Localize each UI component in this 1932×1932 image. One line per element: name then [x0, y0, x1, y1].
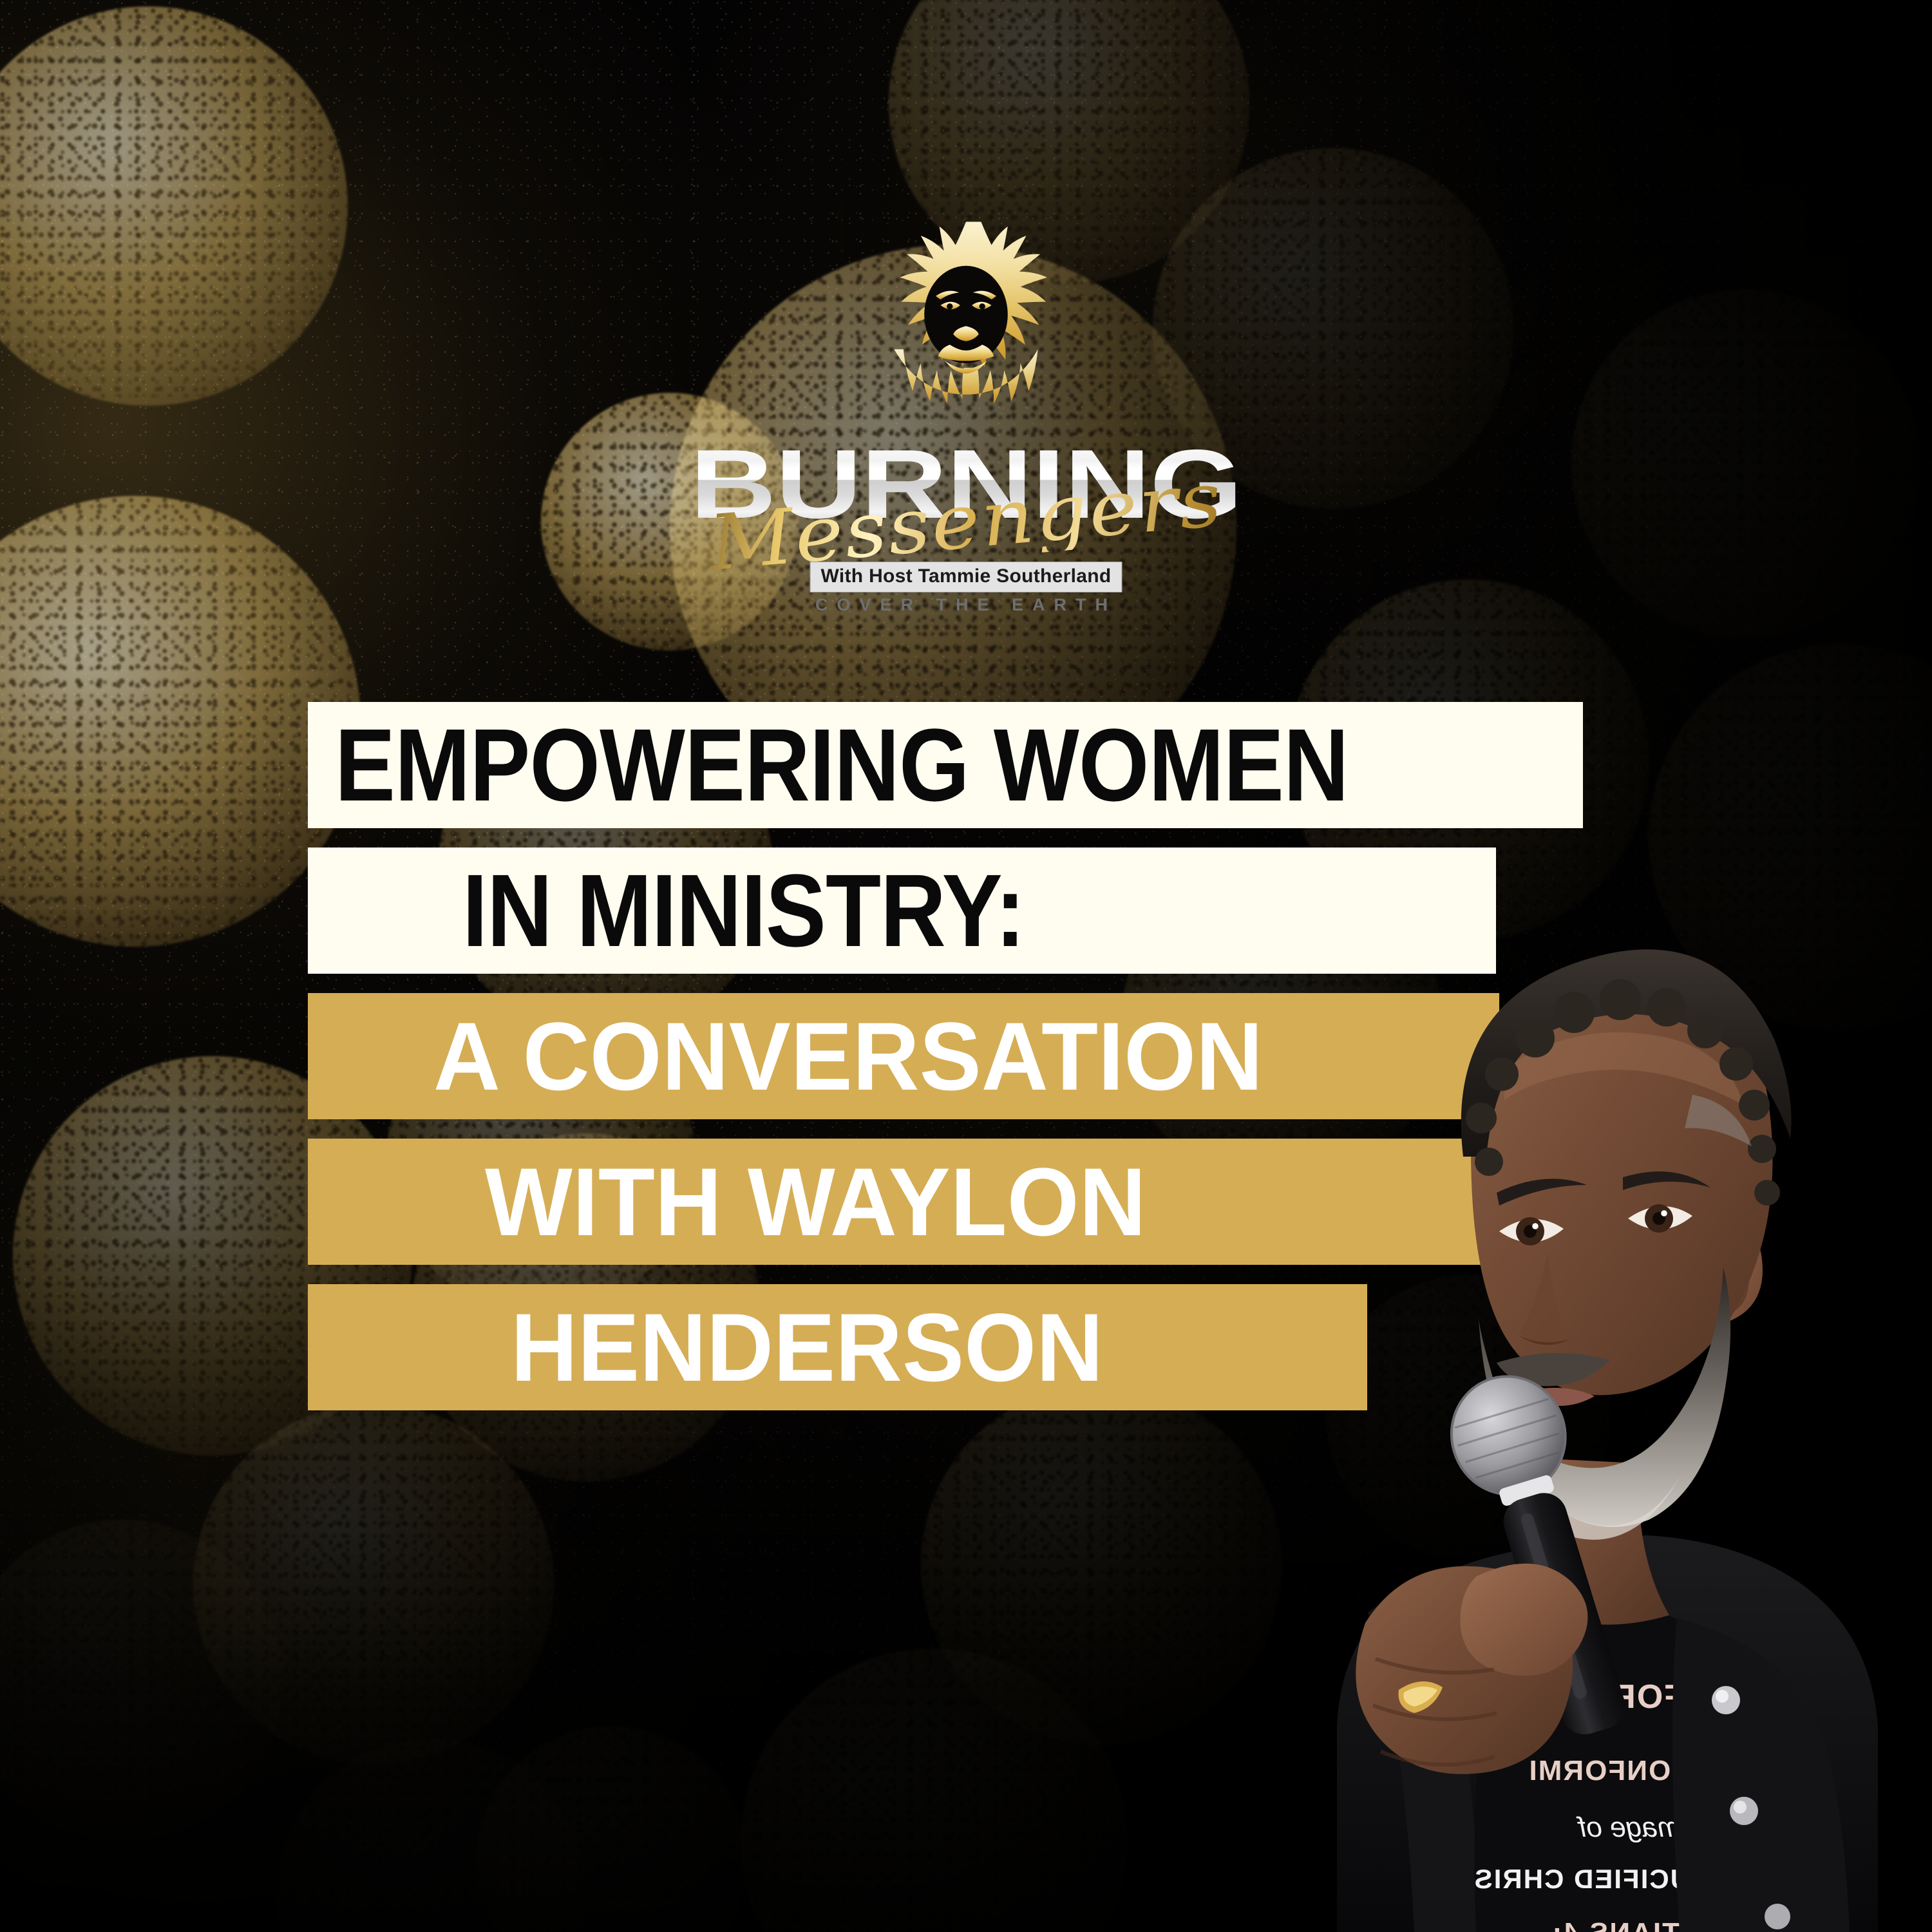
title-line-1: EMPOWERING WOMEN [308, 702, 1583, 828]
host-credit-text: With Host Tammie Southerland [821, 565, 1112, 587]
tagline-text: COVER THE EARTH [702, 595, 1230, 615]
lion-head-icon [850, 213, 1082, 444]
title-line-2-text: IN MINISTRY: [462, 859, 1025, 962]
title-line-4-text: WITH WAYLON [485, 1153, 1146, 1250]
title-line-5: HENDERSON [308, 1284, 1367, 1410]
host-credit-bar: With Host Tammie Southerland [810, 562, 1122, 592]
podcast-episode-poster: BURNING Messengers With Host Tammie Sout… [0, 0, 1932, 1932]
logo-wordmark: BURNING Messengers With Host Tammie Sout… [702, 435, 1230, 564]
title-line-1-text: EMPOWERING WOMEN [335, 714, 1349, 817]
title-line-2: IN MINISTRY: [308, 848, 1496, 974]
show-logo: BURNING Messengers With Host Tammie Sout… [0, 213, 1932, 564]
title-line-3: A CONVERSATION [308, 993, 1499, 1119]
episode-title-block: EMPOWERING WOMEN IN MINISTRY: A CONVERSA… [308, 702, 1583, 1430]
title-line-3-text: A CONVERSATION [433, 1008, 1263, 1104]
title-line-5-text: HENDERSON [511, 1299, 1103, 1396]
title-line-4: WITH WAYLON [308, 1139, 1490, 1265]
